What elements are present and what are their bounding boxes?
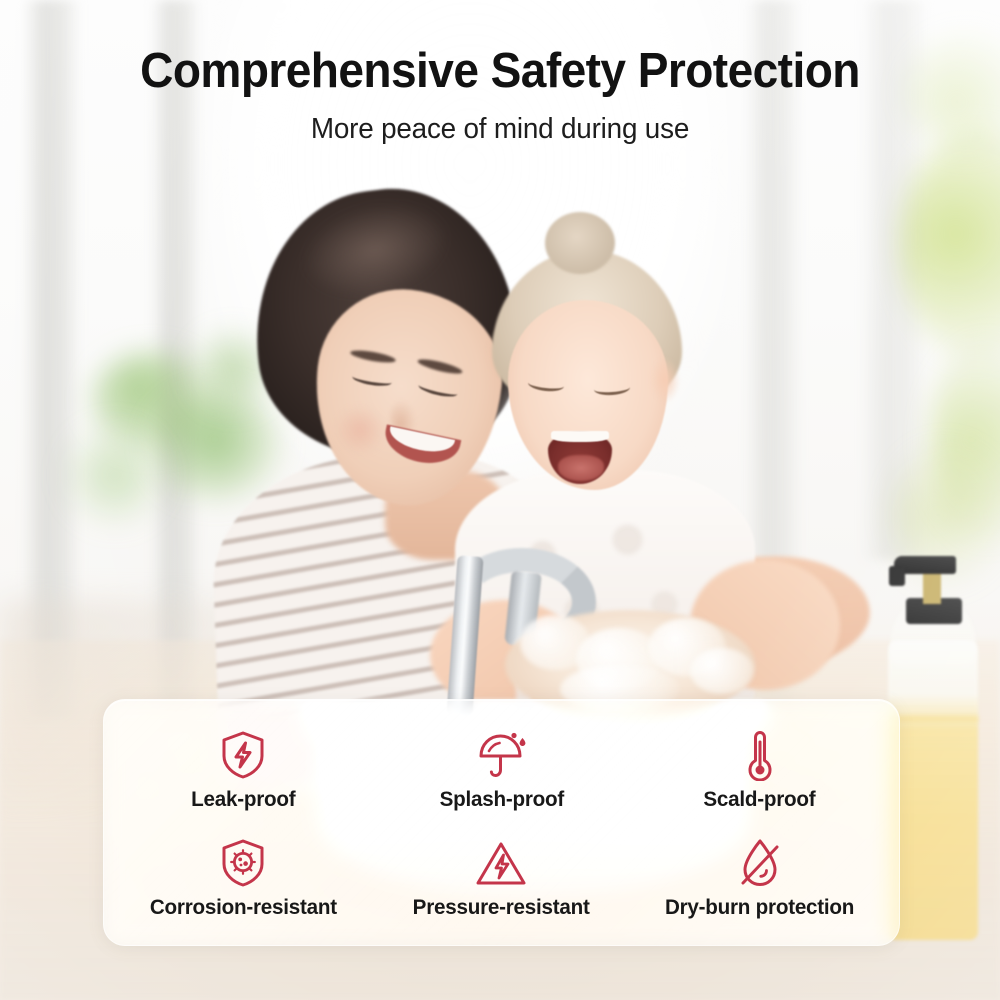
feature-pressure-resistant[interactable]: Pressure-resistant (372, 837, 630, 920)
child-ear (651, 358, 679, 402)
feature-row-bottom: Corrosion-resistant Pressure-resistant (114, 825, 889, 934)
page-subtitle: More peace of mind during use (20, 113, 980, 146)
soap-foam (690, 648, 754, 694)
feature-label: Corrosion-resistant (150, 895, 337, 920)
child-teeth (551, 431, 609, 442)
soap-dispenser-nozzle (889, 566, 905, 586)
feature-splash-proof[interactable]: Splash-proof (372, 729, 630, 812)
green-plant-left (60, 420, 170, 530)
feature-panel: Leak-proof Splash-proof (103, 699, 900, 946)
soap-liquid-level (888, 716, 978, 722)
thermometer-icon (734, 729, 786, 781)
feature-label: Pressure-resistant (413, 895, 590, 920)
feature-label: Splash-proof (439, 787, 563, 812)
umbrella-droplet-icon (475, 729, 527, 781)
no-water-droplet-icon (734, 837, 786, 889)
feature-scald-proof[interactable]: Scald-proof (631, 729, 889, 812)
feature-label: Leak-proof (191, 787, 295, 812)
promo-banner: Comprehensive Safety Protection More pea… (0, 0, 1000, 1000)
feature-dry-burn-protection[interactable]: Dry-burn protection (631, 837, 889, 920)
feature-label: Scald-proof (704, 787, 816, 812)
header-block: Comprehensive Safety Protection More pea… (0, 44, 1000, 146)
warning-triangle-bolt-icon (475, 837, 527, 889)
page-title: Comprehensive Safety Protection (30, 44, 970, 99)
shield-germ-icon (217, 837, 269, 889)
child-hair-bun (545, 212, 615, 274)
feature-leak-proof[interactable]: Leak-proof (114, 729, 372, 812)
shield-bolt-icon (217, 729, 269, 781)
feature-label: Dry-burn protection (665, 895, 854, 920)
child-tongue (558, 455, 604, 481)
soap-dispenser-bottle (888, 640, 978, 940)
feature-row-top: Leak-proof Splash-proof (114, 716, 889, 825)
feature-corrosion-resistant[interactable]: Corrosion-resistant (114, 837, 372, 920)
woman-cheek (332, 408, 388, 452)
